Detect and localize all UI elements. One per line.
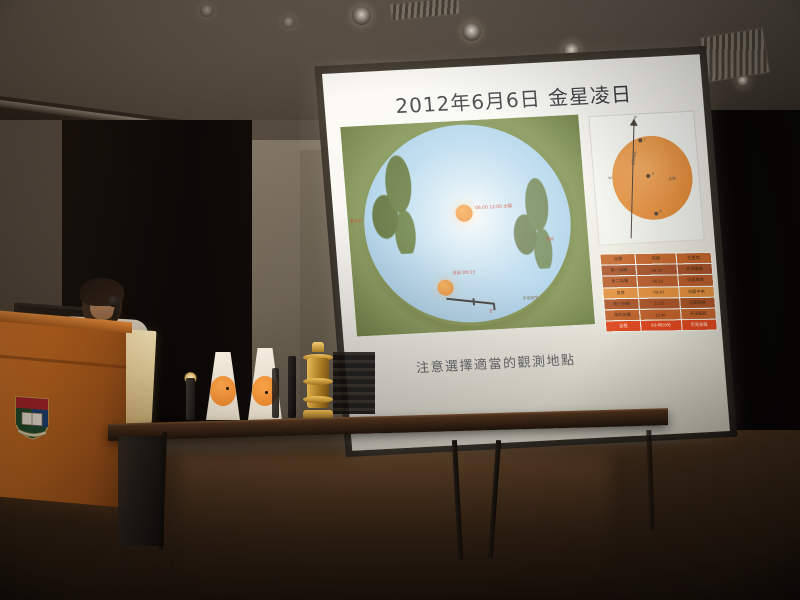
ceiling-downlight — [282, 16, 295, 28]
screen-surface: 2012年6月6日 金星凌日 06:00 12:00 太陽 日出 06:13 E… — [322, 54, 730, 451]
table-cell: 第一接觸 — [601, 265, 637, 277]
ceiling-downlight — [200, 4, 214, 17]
standee-caption — [211, 410, 212, 414]
fisheye-trees — [365, 153, 425, 255]
table-lamp — [186, 378, 195, 420]
floor-reflection — [180, 455, 610, 600]
table-cell: 天頂偏西 — [680, 308, 716, 320]
standee-sun-graphic — [210, 376, 236, 406]
standee-venus-dot — [226, 387, 229, 390]
solar-disc-label: 太陽 — [668, 177, 676, 182]
table-drape — [118, 436, 164, 546]
lecture-hall-photo: 2012年6月6日 金星凌日 06:00 12:00 太陽 日出 06:13 E… — [0, 0, 800, 600]
table-cell: 第三接觸 — [603, 298, 639, 310]
table-cell: 第二接觸 — [602, 276, 638, 288]
standee-venus-dot — [265, 391, 268, 394]
ceiling-downlight — [462, 22, 481, 41]
projection-screen: 2012年6月6日 金星凌日 06:00 12:00 太陽 日出 06:13 E… — [322, 54, 730, 451]
solar-disc — [609, 134, 696, 222]
edge-label-northeast: 東北方 — [350, 218, 362, 225]
table-cell: 天頂偏東 — [676, 263, 712, 275]
standee-caption — [253, 410, 254, 414]
ceiling-downlight — [352, 6, 371, 25]
table-cell: 06:28 — [637, 275, 678, 287]
table-cell: 12:31 — [639, 298, 680, 310]
brass-finial — [312, 342, 324, 352]
table-cell: 09:30 — [638, 286, 679, 298]
west-tick-label: W — [608, 176, 612, 180]
table-header-cell: 位置角 — [675, 252, 711, 264]
brass-telescope-model — [303, 348, 333, 422]
table-cell: 06:10 — [636, 264, 677, 276]
table-cell: 全程 — [605, 320, 641, 332]
table-cell: 第四接觸 — [604, 309, 640, 321]
horizon-label: 平坦地平 — [522, 295, 538, 302]
fisheye-trees — [507, 176, 560, 270]
exhibit-dark-instrument — [288, 356, 296, 418]
exhibit-dark-instrument — [272, 368, 279, 418]
all-sky-fisheye-photo: 06:00 12:00 太陽 日出 06:13 E 東北方 西北 平坦地平 — [340, 115, 595, 337]
table-cell: 可見全程 — [681, 319, 717, 331]
table-cell: 日面西緣 — [679, 297, 715, 309]
table-body: 接觸 時間 位置角 第一接觸 06:10 天頂偏東 第二接觸 06:28 日面東… — [600, 252, 717, 332]
contact-label-1: I — [644, 137, 645, 141]
table-header-cell: 接觸 — [600, 254, 636, 266]
contact-label-2: II — [652, 172, 654, 176]
transit-timing-table: 接觸 時間 位置角 第一接觸 06:10 天頂偏東 第二接觸 06:28 日面東… — [599, 252, 718, 333]
edge-label-northwest: 西北 — [546, 236, 554, 242]
brass-ring — [303, 378, 333, 385]
university-crest-icon — [14, 395, 50, 442]
table-cell: 日面中央 — [678, 286, 714, 298]
table-cell: 12:49 — [640, 309, 681, 321]
table-row: 全程 6小時39分 可見全程 — [605, 319, 717, 332]
venus-transit-path-diagram: 北 I II III 金星路徑 太陽 W — [588, 111, 704, 246]
direction-label-east: E — [489, 309, 492, 315]
slide-caption: 注意選擇適當的觀測地點 — [345, 345, 646, 380]
table-header-cell: 時間 — [635, 253, 676, 265]
microphone-icon — [109, 296, 118, 307]
table-cell: 日面東緣 — [677, 275, 713, 287]
brass-ring — [303, 396, 333, 403]
table-cell: 6小時39分 — [641, 320, 682, 332]
table-cell: 食甚 — [603, 287, 639, 299]
contact-label-3: III — [659, 209, 662, 213]
exhibit-rack — [333, 352, 375, 414]
